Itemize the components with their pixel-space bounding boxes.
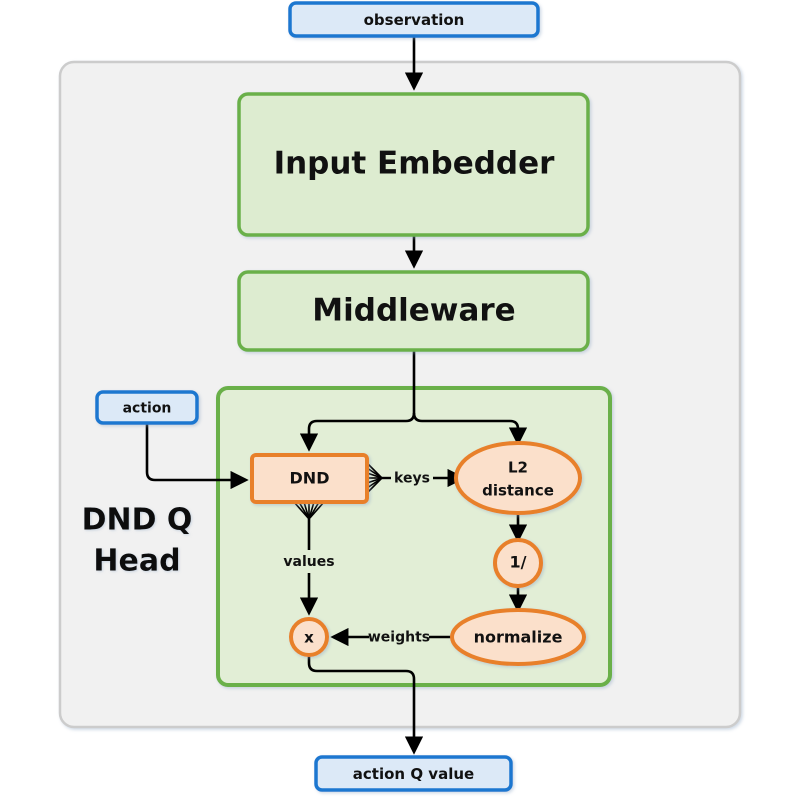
input-embedder-label: Input Embedder bbox=[274, 146, 556, 182]
node-normalize[interactable]: normalize bbox=[452, 610, 584, 664]
node-action-q-value[interactable]: action Q value bbox=[316, 757, 511, 790]
svg-text:Head: Head bbox=[93, 544, 180, 579]
diagram-canvas: observation Input Embedder Middleware ac… bbox=[0, 0, 800, 800]
node-observation[interactable]: observation bbox=[290, 3, 538, 36]
node-middleware[interactable]: Middleware bbox=[239, 272, 588, 350]
middleware-label: Middleware bbox=[312, 293, 515, 329]
node-dnd[interactable]: DND bbox=[252, 455, 367, 502]
reciprocal-label: 1/ bbox=[510, 553, 527, 572]
l2-distance-label-line2: distance bbox=[482, 482, 554, 500]
node-multiply[interactable]: x bbox=[291, 619, 327, 655]
values-label: values bbox=[283, 554, 334, 570]
dnd-label: DND bbox=[290, 469, 330, 488]
edge-label-weights-group: weights bbox=[368, 628, 430, 647]
l2-distance-label-line1: L2 bbox=[508, 459, 528, 477]
weights-label: weights bbox=[368, 630, 430, 646]
node-action[interactable]: action bbox=[97, 392, 197, 423]
observation-label: observation bbox=[364, 11, 465, 29]
edge-label-values-group: values bbox=[279, 551, 339, 571]
keys-label: keys bbox=[394, 471, 430, 487]
action-q-value-label: action Q value bbox=[353, 765, 474, 783]
node-reciprocal[interactable]: 1/ bbox=[495, 540, 541, 586]
node-l2-distance[interactable]: L2 distance bbox=[456, 443, 580, 513]
normalize-label: normalize bbox=[474, 628, 563, 647]
node-input-embedder[interactable]: Input Embedder bbox=[239, 94, 588, 235]
svg-text:DND Q: DND Q bbox=[82, 503, 193, 538]
action-label: action bbox=[123, 401, 172, 417]
multiply-label: x bbox=[304, 629, 314, 647]
edge-label-keys-group: keys bbox=[391, 469, 433, 487]
